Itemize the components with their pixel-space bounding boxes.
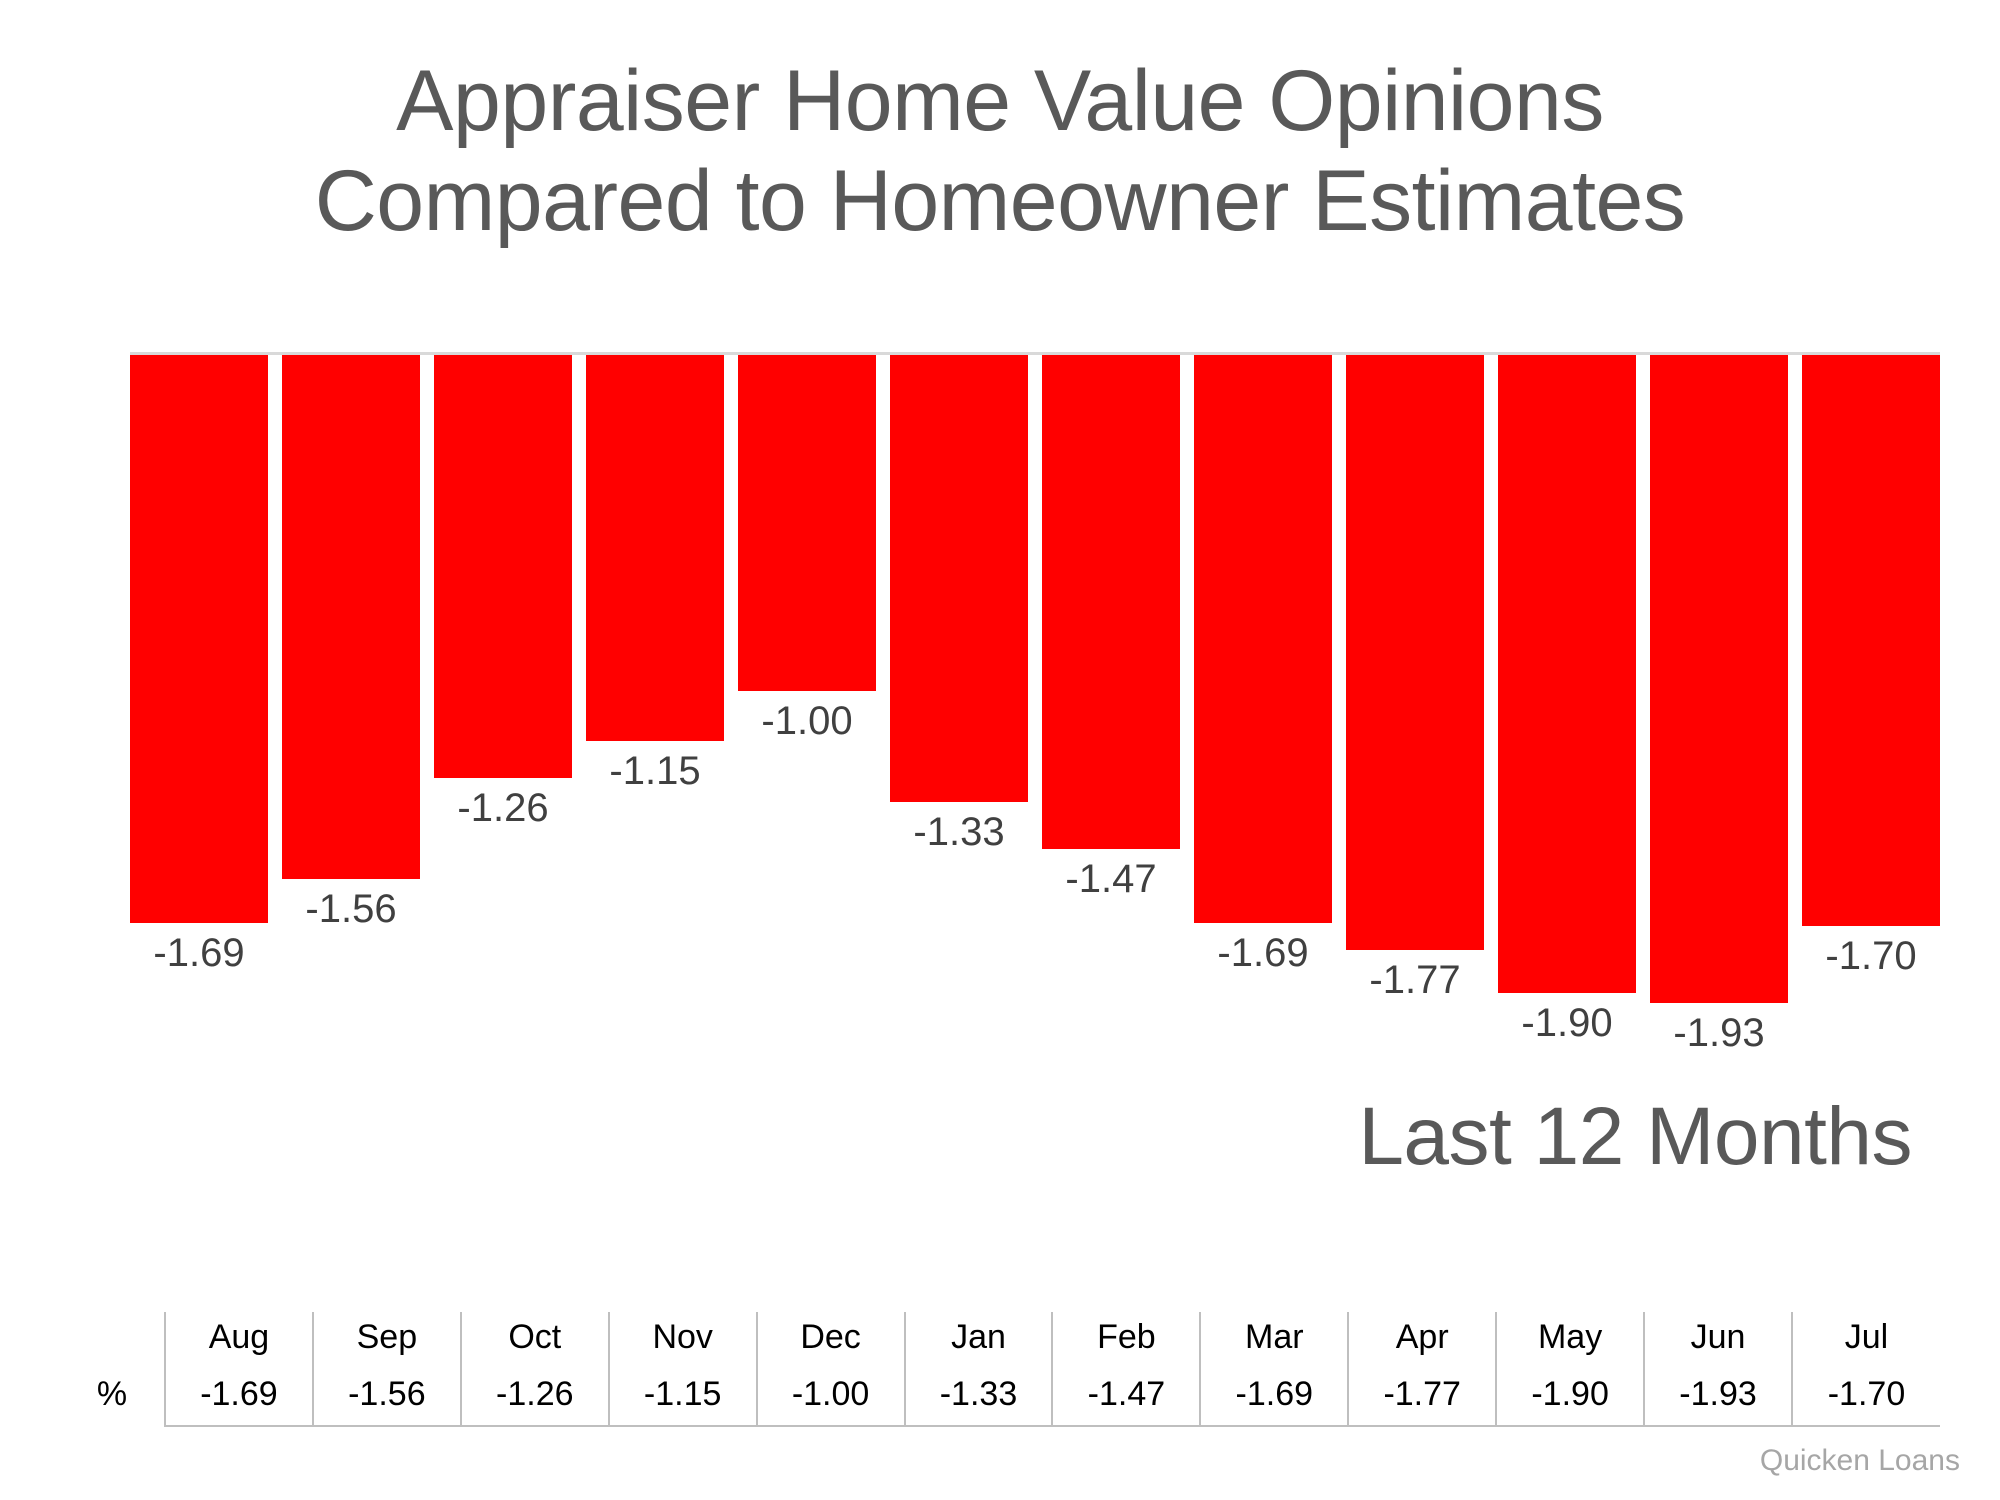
bar-slot: -1.15	[586, 355, 724, 1052]
table-cell-value: -1.00	[757, 1369, 905, 1427]
bar-value-label: -1.47	[1065, 857, 1156, 902]
table-column-header: May	[1496, 1312, 1644, 1369]
table-cell-value: -1.77	[1348, 1369, 1496, 1427]
bar-slot: -1.77	[1346, 355, 1484, 1052]
bar-value-label: -1.33	[913, 810, 1004, 855]
table-cell-value: -1.47	[1052, 1369, 1200, 1427]
data-table: AugSepOctNovDecJanFebMarAprMayJunJul %-1…	[60, 1312, 1940, 1427]
table-column-header: Jan	[905, 1312, 1053, 1369]
bar-value-label: -1.69	[153, 931, 244, 976]
bar[interactable]	[1802, 355, 1940, 926]
table-cell-value: -1.70	[1792, 1369, 1940, 1427]
bar-slot: -1.47	[1042, 355, 1180, 1052]
bar-slot: -1.69	[130, 355, 268, 1052]
chart-title-line-1: Appraiser Home Value Opinions	[0, 52, 2000, 152]
bar-slot: -1.90	[1498, 355, 1636, 1052]
bar[interactable]	[1194, 355, 1332, 923]
table-column-header: Aug	[165, 1312, 313, 1369]
table-column-header: Oct	[461, 1312, 609, 1369]
bar-slot: -1.69	[1194, 355, 1332, 1052]
table-cell-value: -1.93	[1644, 1369, 1792, 1427]
bar-value-label: -1.90	[1521, 1001, 1612, 1046]
table-cell-value: -1.69	[1200, 1369, 1348, 1427]
bar-value-label: -1.69	[1217, 931, 1308, 976]
bar-value-label: -1.26	[457, 786, 548, 831]
table-column-header: Nov	[609, 1312, 757, 1369]
bar-slot: -1.93	[1650, 355, 1788, 1052]
bar-series: -1.69-1.56-1.26-1.15-1.00-1.33-1.47-1.69…	[130, 355, 1940, 1052]
table-cell-value: -1.56	[313, 1369, 461, 1427]
bar-slot: -1.70	[1802, 355, 1940, 1052]
bar-value-label: -1.77	[1369, 958, 1460, 1003]
bar-value-label: -1.00	[761, 699, 852, 744]
bar-slot: -1.56	[282, 355, 420, 1052]
table-row-unit-label: %	[60, 1369, 165, 1427]
bar-value-label: -1.70	[1825, 934, 1916, 979]
bar[interactable]	[586, 355, 724, 741]
table-cell-value: -1.26	[461, 1369, 609, 1427]
bar[interactable]	[434, 355, 572, 778]
bar[interactable]	[1042, 355, 1180, 849]
bar-slot: -1.33	[890, 355, 1028, 1052]
table-header-row: AugSepOctNovDecJanFebMarAprMayJunJul	[60, 1312, 1940, 1369]
data-table-container: AugSepOctNovDecJanFebMarAprMayJunJul %-1…	[60, 1312, 1940, 1427]
bar-slot: -1.00	[738, 355, 876, 1052]
table-value-row: %-1.69-1.56-1.26-1.15-1.00-1.33-1.47-1.6…	[60, 1369, 1940, 1427]
bar-value-label: -1.56	[305, 887, 396, 932]
table-column-header: Dec	[757, 1312, 905, 1369]
chart-title-line-2: Compared to Homeowner Estimates	[0, 152, 2000, 252]
bar[interactable]	[1650, 355, 1788, 1003]
source-attribution: Quicken Loans	[1760, 1444, 1960, 1478]
table-column-header: Jul	[1792, 1312, 1940, 1369]
table-column-header: Sep	[313, 1312, 461, 1369]
table-column-header: Apr	[1348, 1312, 1496, 1369]
bar-slot: -1.26	[434, 355, 572, 1052]
table-cell-value: -1.90	[1496, 1369, 1644, 1427]
bar[interactable]	[282, 355, 420, 879]
table-cell-value: -1.15	[609, 1369, 757, 1427]
bar-value-label: -1.93	[1673, 1011, 1764, 1056]
bar[interactable]	[1498, 355, 1636, 993]
chart-subtitle: Last 12 Months	[1358, 1090, 1912, 1184]
slide-canvas: Appraiser Home Value Opinions Compared t…	[0, 0, 2000, 1500]
bar[interactable]	[890, 355, 1028, 802]
bar[interactable]	[1346, 355, 1484, 950]
table-cell-value: -1.33	[905, 1369, 1053, 1427]
table-cell-value: -1.69	[165, 1369, 313, 1427]
chart-title: Appraiser Home Value Opinions Compared t…	[0, 52, 2000, 252]
bar-value-label: -1.15	[609, 749, 700, 794]
bar[interactable]	[738, 355, 876, 691]
table-column-header: Jun	[1644, 1312, 1792, 1369]
chart-plot-area: -1.69-1.56-1.26-1.15-1.00-1.33-1.47-1.69…	[130, 352, 1940, 1052]
table-column-header: Feb	[1052, 1312, 1200, 1369]
table-column-header: Mar	[1200, 1312, 1348, 1369]
bar[interactable]	[130, 355, 268, 923]
table-corner-blank	[60, 1312, 165, 1369]
